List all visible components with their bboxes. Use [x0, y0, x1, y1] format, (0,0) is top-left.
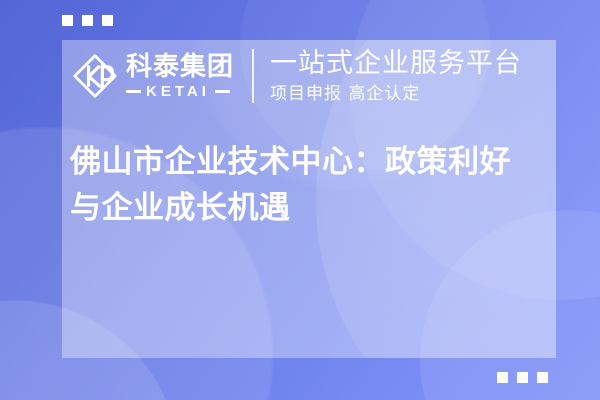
brand-name-cn: 科泰集团 [126, 54, 234, 80]
square-dot [62, 15, 73, 26]
slogan-sub: 项目申报 高企认定 [270, 85, 522, 104]
slogan-block: 一站式企业服务平台 项目申报 高企认定 [270, 49, 522, 103]
wordmark-rule-right [215, 90, 230, 93]
top-left-square-dots [62, 15, 113, 26]
square-dot [102, 15, 113, 26]
brand-logo[interactable]: 科泰集团 KETAI [72, 53, 234, 99]
page-title: 佛山市企业技术中心：政策利好与企业成长机遇 [70, 140, 540, 232]
brand-name-en-row: KETAI [126, 84, 234, 99]
ketai-diamond-monogram-icon [72, 53, 118, 99]
square-dot [517, 372, 528, 383]
promo-banner: 科泰集团 KETAI 一站式企业服务平台 项目申报 高企认定 佛山市企业技术中心… [0, 0, 600, 400]
vertical-divider [252, 49, 254, 103]
square-dot [537, 372, 548, 383]
content-panel: 科泰集团 KETAI 一站式企业服务平台 项目申报 高企认定 佛山市企业技术中心… [62, 40, 556, 358]
slogan-main: 一站式企业服务平台 [270, 49, 522, 79]
brand-header: 科泰集团 KETAI 一站式企业服务平台 项目申报 高企认定 [62, 40, 556, 112]
square-dot [497, 372, 508, 383]
wordmark-rule-left [126, 90, 141, 93]
brand-wordmark: 科泰集团 KETAI [126, 54, 234, 99]
square-dot [82, 15, 93, 26]
brand-name-en: KETAI [146, 84, 210, 99]
bottom-right-square-dots [497, 372, 548, 383]
